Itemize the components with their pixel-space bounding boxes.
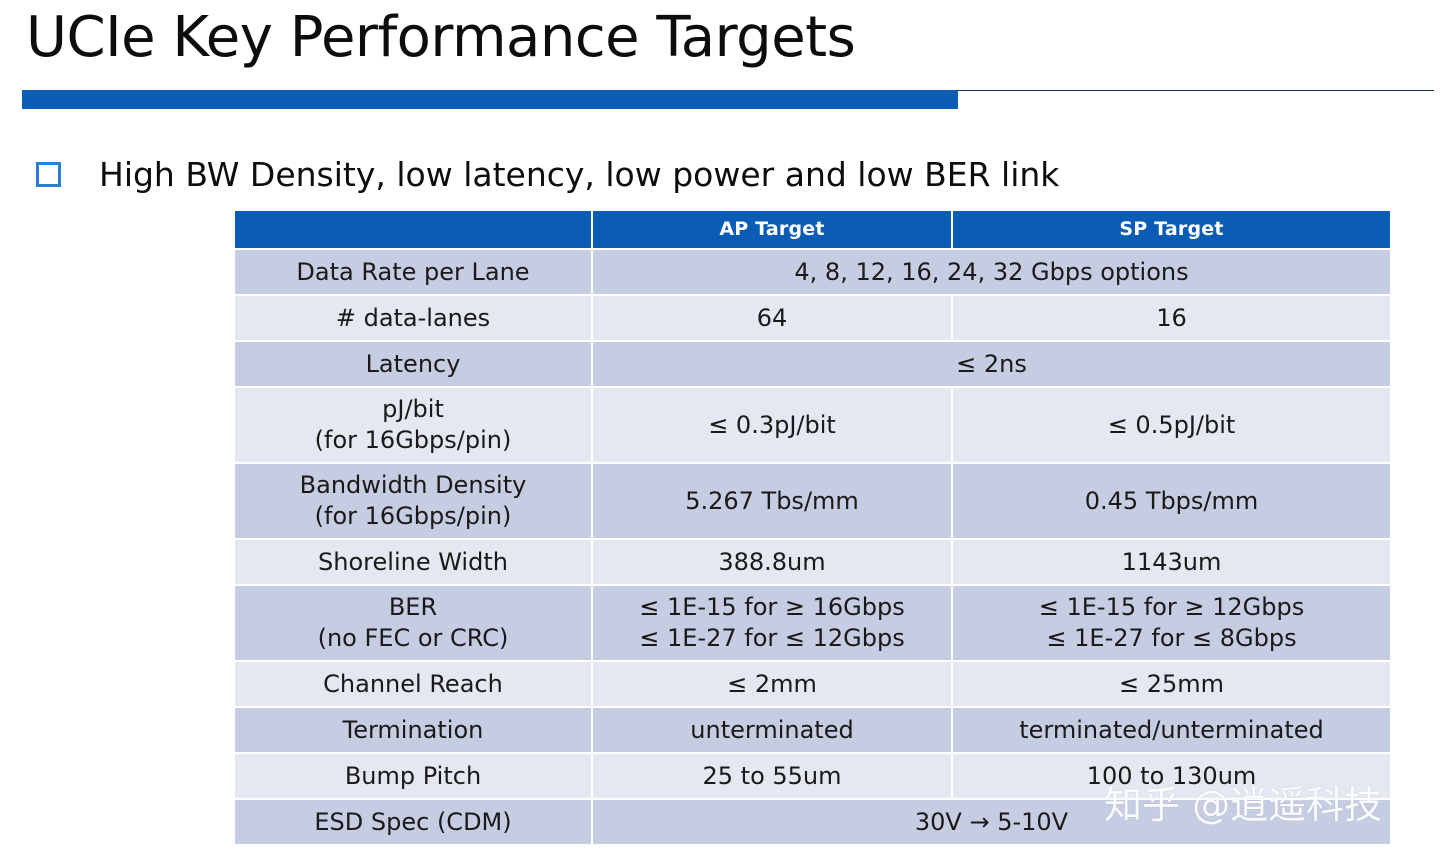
table-row: Latency≤ 2ns (235, 342, 1390, 386)
metric-label-subtext: (no FEC or CRC) (235, 623, 591, 654)
sp-value-subtext: ≤ 1E-27 for ≤ 8Gbps (953, 623, 1390, 654)
bullet-item-label: High BW Density, low latency, low power … (99, 153, 1059, 197)
ap-value-text: 5.267 Tbs/mm (593, 486, 951, 517)
table-cell-ap-value: ≤ 2mm (593, 662, 951, 706)
metric-label-subtext: (for 16Gbps/pin) (235, 501, 591, 532)
sp-value-text: terminated/unterminated (953, 715, 1390, 746)
table-cell-ap-value: 25 to 55um (593, 754, 951, 798)
hollow-square-bullet-icon (36, 162, 61, 187)
table-cell-metric-label: Channel Reach (235, 662, 591, 706)
sp-value-text: 16 (953, 303, 1390, 334)
sp-value-text: ≤ 25mm (953, 669, 1390, 700)
metric-label-text: Bandwidth Density (235, 470, 591, 501)
ap-value-text: ≤ 2mm (593, 669, 951, 700)
metric-label-text: # data-lanes (235, 303, 591, 334)
table-cell-metric-label: ESD Spec (CDM) (235, 800, 591, 844)
table-cell-sp-value: 16 (953, 296, 1390, 340)
table-cell-metric-label: # data-lanes (235, 296, 591, 340)
table-row: BER(no FEC or CRC)≤ 1E-15 for ≥ 16Gbps≤ … (235, 586, 1390, 660)
table-cell-metric-label: Shoreline Width (235, 540, 591, 584)
table-cell-sp-value: ≤ 25mm (953, 662, 1390, 706)
sp-value-text: 0.45 Tbps/mm (953, 486, 1390, 517)
metric-label-text: Channel Reach (235, 669, 591, 700)
ap-value-text: unterminated (593, 715, 951, 746)
table-cell-metric-label: Termination (235, 708, 591, 752)
sp-value-text: ≤ 1E-15 for ≥ 12Gbps (953, 592, 1390, 623)
metric-label-text: BER (235, 592, 591, 623)
metric-label-text: ESD Spec (CDM) (235, 807, 591, 838)
table-cell-shared-value: ≤ 2ns (593, 342, 1390, 386)
metric-label-text: pJ/bit (235, 394, 591, 425)
table-cell-ap-value: 5.267 Tbs/mm (593, 464, 951, 538)
table-cell-sp-value: 0.45 Tbps/mm (953, 464, 1390, 538)
table-header: AP Target SP Target (235, 211, 1390, 248)
table-row: Bump Pitch25 to 55um100 to 130um (235, 754, 1390, 798)
table-cell-sp-value: ≤ 1E-15 for ≥ 12Gbps≤ 1E-27 for ≤ 8Gbps (953, 586, 1390, 660)
bullet-list-item: High BW Density, low latency, low power … (36, 153, 1416, 197)
performance-targets-table: AP Target SP Target Data Rate per Lane4,… (233, 209, 1392, 846)
ap-value-text: 25 to 55um (593, 761, 951, 792)
metric-label-text: Latency (235, 349, 591, 380)
sp-value-text: ≤ 0.5pJ/bit (953, 410, 1390, 441)
column-header-sp-target: SP Target (953, 211, 1390, 248)
table-row: Shoreline Width388.8um1143um (235, 540, 1390, 584)
table-row: # data-lanes6416 (235, 296, 1390, 340)
table-row: Bandwidth Density(for 16Gbps/pin)5.267 T… (235, 464, 1390, 538)
column-header-metric (235, 211, 591, 248)
table-cell-metric-label: Bandwidth Density(for 16Gbps/pin) (235, 464, 591, 538)
table-cell-ap-value: 64 (593, 296, 951, 340)
table-body: Data Rate per Lane4, 8, 12, 16, 24, 32 G… (235, 250, 1390, 844)
table-row: Channel Reach≤ 2mm≤ 25mm (235, 662, 1390, 706)
table-cell-sp-value: 100 to 130um (953, 754, 1390, 798)
table-cell-metric-label: Latency (235, 342, 591, 386)
sp-value-text: 100 to 130um (953, 761, 1390, 792)
metric-label-text: Data Rate per Lane (235, 257, 591, 288)
metric-label-subtext: (for 16Gbps/pin) (235, 425, 591, 456)
metric-label-text: Bump Pitch (235, 761, 591, 792)
table-cell-ap-value: ≤ 1E-15 for ≥ 16Gbps≤ 1E-27 for ≤ 12Gbps (593, 586, 951, 660)
ap-value-text: 388.8um (593, 547, 951, 578)
table-cell-metric-label: Bump Pitch (235, 754, 591, 798)
ap-value-subtext: ≤ 1E-27 for ≤ 12Gbps (593, 623, 951, 654)
table-cell-metric-label: pJ/bit(for 16Gbps/pin) (235, 388, 591, 462)
metric-label-text: Termination (235, 715, 591, 746)
table-row: Data Rate per Lane4, 8, 12, 16, 24, 32 G… (235, 250, 1390, 294)
table-cell-sp-value: 1143um (953, 540, 1390, 584)
table-cell-ap-value: ≤ 0.3pJ/bit (593, 388, 951, 462)
ap-value-text: ≤ 1E-15 for ≥ 16Gbps (593, 592, 951, 623)
sp-value-text: 1143um (953, 547, 1390, 578)
ap-value-text: ≤ 0.3pJ/bit (593, 410, 951, 441)
ap-value-text: 64 (593, 303, 951, 334)
table-cell-shared-value: 30V → 5-10V (593, 800, 1390, 844)
table-cell-metric-label: BER(no FEC or CRC) (235, 586, 591, 660)
column-header-ap-target: AP Target (593, 211, 951, 248)
table-cell-sp-value: ≤ 0.5pJ/bit (953, 388, 1390, 462)
table-cell-ap-value: unterminated (593, 708, 951, 752)
table-row: Terminationunterminatedterminated/unterm… (235, 708, 1390, 752)
table-row: ESD Spec (CDM)30V → 5-10V (235, 800, 1390, 844)
table-cell-shared-value: 4, 8, 12, 16, 24, 32 Gbps options (593, 250, 1390, 294)
title-accent-bar (22, 90, 958, 109)
metric-label-text: Shoreline Width (235, 547, 591, 578)
table-cell-sp-value: terminated/unterminated (953, 708, 1390, 752)
table-row: pJ/bit(for 16Gbps/pin)≤ 0.3pJ/bit≤ 0.5pJ… (235, 388, 1390, 462)
table-cell-metric-label: Data Rate per Lane (235, 250, 591, 294)
page-title: UCIe Key Performance Targets (26, 2, 855, 74)
table-header-row: AP Target SP Target (235, 211, 1390, 248)
table-cell-ap-value: 388.8um (593, 540, 951, 584)
